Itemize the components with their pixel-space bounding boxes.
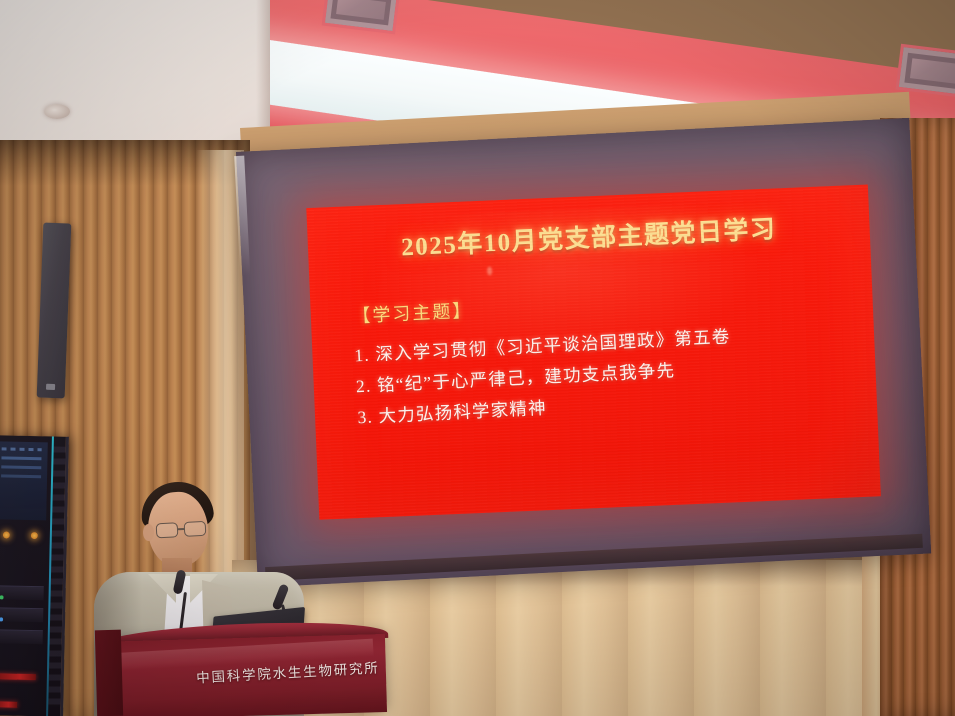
led-display-screen[interactable]: 2025年10月党支部主题党日学习 【学习主题】 1. 深入学习贯彻《习近平谈治… — [306, 185, 881, 520]
rack-status-led — [31, 532, 38, 539]
eyeglass-lens — [156, 522, 179, 538]
rack-unit — [0, 607, 43, 622]
recessed-downlight-icon — [44, 104, 70, 119]
ceiling-vent-icon — [895, 44, 955, 98]
rack-monitor-panel — [0, 441, 48, 520]
rack-status-led — [3, 531, 10, 538]
podium-side-face — [95, 630, 123, 716]
screen-frame: 2025年10月党支部主题党日学习 【学习主题】 1. 深入学习贯彻《习近平谈治… — [236, 118, 931, 588]
av-equipment-rack — [0, 435, 69, 716]
rack-unit — [0, 629, 43, 644]
rack-led-bar — [0, 673, 36, 680]
speaker-brand-logo — [46, 384, 55, 390]
slide-body: 【学习主题】 1. 深入学习贯彻《习近平谈治国理政》第五卷 2. 铭“纪”于心严… — [352, 277, 852, 433]
rack-unit — [0, 585, 44, 600]
rack-led-bar — [0, 701, 17, 707]
presenter-ear — [143, 524, 154, 541]
screen-dust-speck — [487, 266, 492, 275]
conference-hall-photo: 2025年10月党支部主题党日学习 【学习主题】 1. 深入学习贯彻《习近平谈治… — [0, 0, 955, 716]
eyeglasses-icon — [156, 521, 211, 539]
eyeglass-lens — [184, 521, 207, 537]
